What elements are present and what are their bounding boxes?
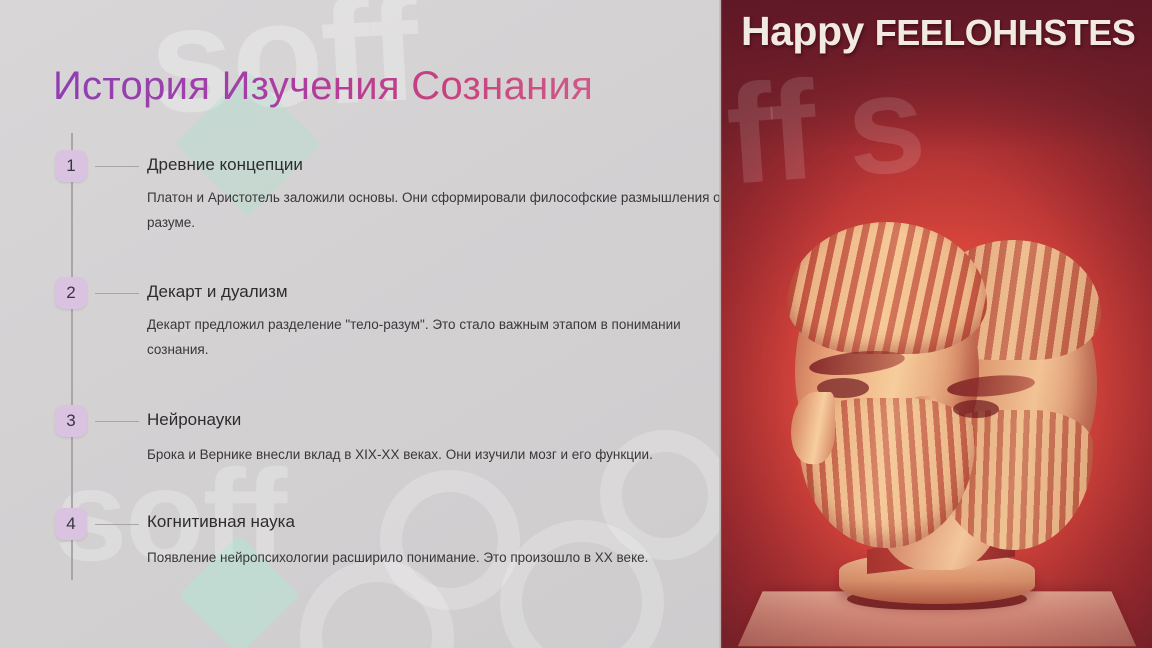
- panel-seam: [719, 0, 722, 648]
- photo-headline: Happy FEELOHHSTES: [741, 8, 1135, 55]
- timeline-connector: [95, 293, 139, 294]
- photo-headline-primary: Happy: [741, 8, 864, 54]
- presentation-slide: soff soff История Изучения Сознания 1 Др…: [0, 0, 1152, 648]
- timeline-step-badge: 2: [55, 277, 87, 309]
- timeline: 1 Древние концепции Платон и Аристотель …: [0, 0, 721, 648]
- photo-headline-secondary: FEELOHHSTES: [875, 12, 1136, 53]
- timeline-step-badge: 1: [55, 150, 87, 182]
- timeline-item-body: Декарт предложил разделение "тело-разум"…: [147, 312, 721, 362]
- timeline-item-body: Появление нейропсихологии расширило пони…: [147, 545, 721, 570]
- bust-nose: [791, 392, 835, 464]
- left-content-panel: soff soff История Изучения Сознания 1 Др…: [0, 0, 721, 648]
- timeline-item-heading: Древние концепции: [147, 155, 303, 175]
- timeline-item-body: Брока и Вернике внесли вклад в XIX-XX ве…: [147, 442, 721, 467]
- timeline-item-heading: Когнитивная наука: [147, 512, 295, 532]
- timeline-item-heading: Нейронауки: [147, 410, 241, 430]
- timeline-connector: [95, 166, 139, 167]
- timeline-connector: [95, 421, 139, 422]
- bust-eye-back: [953, 400, 999, 418]
- timeline-item-heading: Декарт и дуализм: [147, 282, 288, 302]
- timeline-item-body: Платон и Аристотель заложили основы. Они…: [147, 185, 721, 235]
- timeline-connector: [95, 524, 139, 525]
- photo-panel: ff s Happy FEELOHHSTES: [721, 0, 1152, 648]
- timeline-step-badge: 3: [55, 405, 87, 437]
- timeline-step-badge: 4: [55, 508, 87, 540]
